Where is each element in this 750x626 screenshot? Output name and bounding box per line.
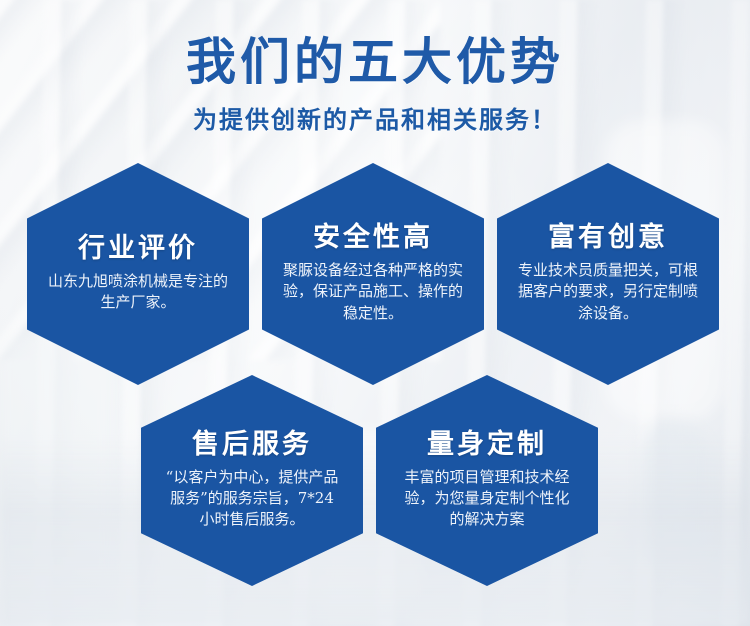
page-title: 我们的五大优势 [0, 34, 750, 89]
advantage-title: 量身定制 [427, 431, 547, 458]
advantage-title: 行业评价 [78, 235, 198, 262]
header-block: 我们的五大优势 为提供创新的产品和相关服务！ [0, 34, 750, 135]
advantage-description: 丰富的项目管理和技术经验，为您量身定制个性化的解决方案 [398, 467, 576, 531]
promo-banner: 我们的五大优势 为提供创新的产品和相关服务！ 行业评价 山东九旭喷涂机械是专注的… [0, 0, 750, 626]
advantage-description: 聚脲设备经过各种严格的实验，保证产品施工、操作的稳定性。 [282, 260, 464, 324]
advantage-title: 富有创意 [548, 224, 668, 251]
advantage-description: “以客户为中心，提供产品服务”的服务宗旨，7*24小时售后服务。 [163, 467, 341, 531]
advantage-description: 专业技术员质量把关，可根据客户的要求，另行定制喷涂设备。 [517, 260, 699, 324]
advantage-title: 售后服务 [192, 431, 312, 458]
advantage-description: 山东九旭喷涂机械是专注的生产厂家。 [47, 271, 229, 314]
advantage-title: 安全性高 [313, 224, 433, 251]
page-subtitle: 为提供创新的产品和相关服务！ [0, 100, 750, 135]
